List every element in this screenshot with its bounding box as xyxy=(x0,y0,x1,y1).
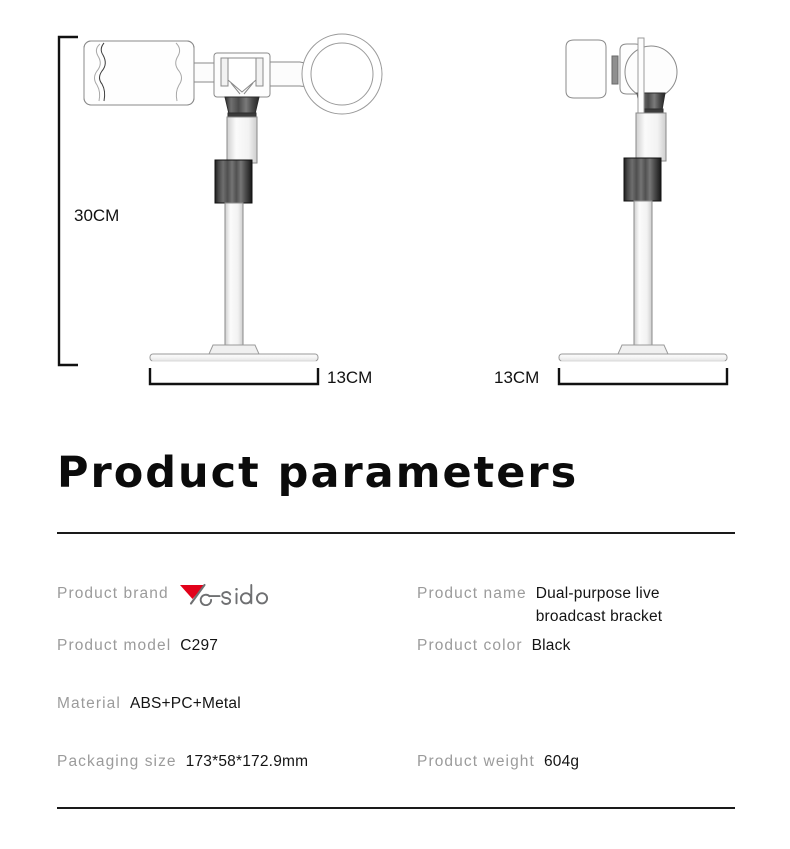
pole-knurled-grip-side xyxy=(624,158,661,201)
spec-value-product-name: Dual-purpose live broadcast bracket xyxy=(536,582,716,628)
spec-label-packaging-size: Packaging size xyxy=(57,750,177,773)
phone-clamp-front xyxy=(84,41,194,105)
front-view-drawing xyxy=(84,34,382,361)
width-dimension-bracket-right xyxy=(559,368,727,384)
spec-label-product-weight: Product weight xyxy=(417,750,535,773)
pivot-hub-front xyxy=(214,53,270,97)
spec-row-packaging-size: Packaging size 173*58*172.9mm xyxy=(57,750,308,773)
ring-light-front xyxy=(270,34,382,114)
spec-value-packaging-size: 173*58*172.9mm xyxy=(186,750,309,773)
product-diagram-area: 30CM 13CM 13CM xyxy=(0,0,790,420)
divider-top xyxy=(57,532,735,534)
yesido-logo xyxy=(178,582,270,606)
spec-row-material: Material ABS+PC+Metal xyxy=(57,692,241,715)
pole-lower-front xyxy=(225,203,243,353)
spec-row-product-brand: Product brand xyxy=(57,582,270,606)
spec-row-product-weight: Product weight 604g xyxy=(417,750,579,773)
pole-upper-front xyxy=(227,117,257,163)
hub-knurled-collar-front xyxy=(225,97,259,117)
height-dimension-bracket xyxy=(59,37,78,365)
spec-value-product-weight: 604g xyxy=(544,750,579,773)
spec-value-material: ABS+PC+Metal xyxy=(130,692,241,715)
height-dimension-label: 30CM xyxy=(74,206,119,226)
width-dimension-label-right: 13CM xyxy=(494,368,539,388)
spec-value-product-color: Black xyxy=(532,634,571,657)
side-view-drawing xyxy=(559,38,727,361)
spec-value-product-model: C297 xyxy=(180,634,218,657)
spec-row-product-color: Product color Black xyxy=(417,634,571,657)
spec-label-product-model: Product model xyxy=(57,634,171,657)
spec-row-product-name: Product name Dual-purpose live broadcast… xyxy=(417,582,716,628)
pivot-hub-side xyxy=(625,46,677,113)
spec-row-product-model: Product model C297 xyxy=(57,634,218,657)
width-dimension-label-left: 13CM xyxy=(327,368,372,388)
width-dimension-bracket-left xyxy=(150,368,318,384)
pole-knurled-grip-front xyxy=(215,160,252,203)
divider-bottom xyxy=(57,807,735,809)
spec-label-product-name: Product name xyxy=(417,582,527,605)
page-title: Product parameters xyxy=(57,448,578,498)
base-front xyxy=(150,345,318,361)
product-parameters-table: Product brand xyxy=(0,560,790,800)
spec-label-product-brand: Product brand xyxy=(57,582,169,605)
pole-upper-side xyxy=(636,113,666,161)
pole-lower-side xyxy=(634,201,652,353)
spec-label-material: Material xyxy=(57,692,121,715)
spec-label-product-color: Product color xyxy=(417,634,523,657)
ring-light-side xyxy=(638,38,644,120)
left-arm xyxy=(194,63,216,82)
base-side xyxy=(559,345,727,361)
